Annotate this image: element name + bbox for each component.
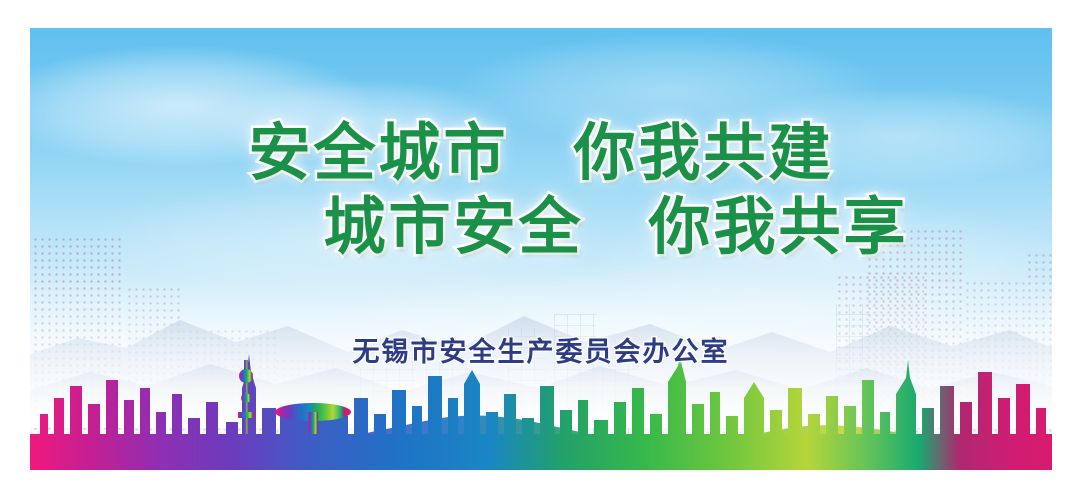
ghost-building <box>32 236 124 458</box>
ghost-building <box>1026 252 1052 458</box>
cloud-shape <box>30 46 370 166</box>
city-skyline-silhouette <box>30 342 1052 470</box>
cloud-shape <box>460 34 880 144</box>
cloud-shape <box>590 198 1052 328</box>
ghost-building <box>126 286 184 458</box>
headline-block: 安全城市 你我共建 城市安全 你我共享 <box>30 116 1052 264</box>
headline-line-2: 城市安全 你我共享 <box>30 190 1052 264</box>
ghost-scaffold <box>554 314 596 458</box>
headline-line-1: 安全城市 你我共建 <box>30 116 1052 190</box>
tv-tower-icon <box>238 360 254 434</box>
poster-canvas: 安全城市 你我共建 城市安全 你我共享 无锡市安全生产委员会办公室 <box>0 0 1080 496</box>
cloud-shape <box>720 88 1052 184</box>
ghost-building <box>274 358 334 458</box>
ghost-scaffold <box>836 304 870 458</box>
ghost-building <box>180 328 276 458</box>
ghost-building <box>836 274 924 458</box>
ghost-scaffold <box>602 340 636 458</box>
ghost-building <box>866 228 962 458</box>
ghost-scaffold <box>360 346 416 458</box>
ghost-building <box>964 280 1028 458</box>
horizon-haze <box>30 278 1052 428</box>
ghost-scaffold <box>426 360 468 458</box>
issuer-label: 无锡市安全生产委员会办公室 <box>30 330 1052 369</box>
cloud-shape <box>90 178 610 298</box>
ghost-scaffold <box>508 328 546 458</box>
cloud-shape <box>330 260 930 400</box>
safety-banner: 安全城市 你我共建 城市安全 你我共享 无锡市安全生产委员会办公室 <box>30 28 1052 470</box>
misty-mountains <box>30 268 1052 448</box>
cloud-shape <box>210 80 510 164</box>
